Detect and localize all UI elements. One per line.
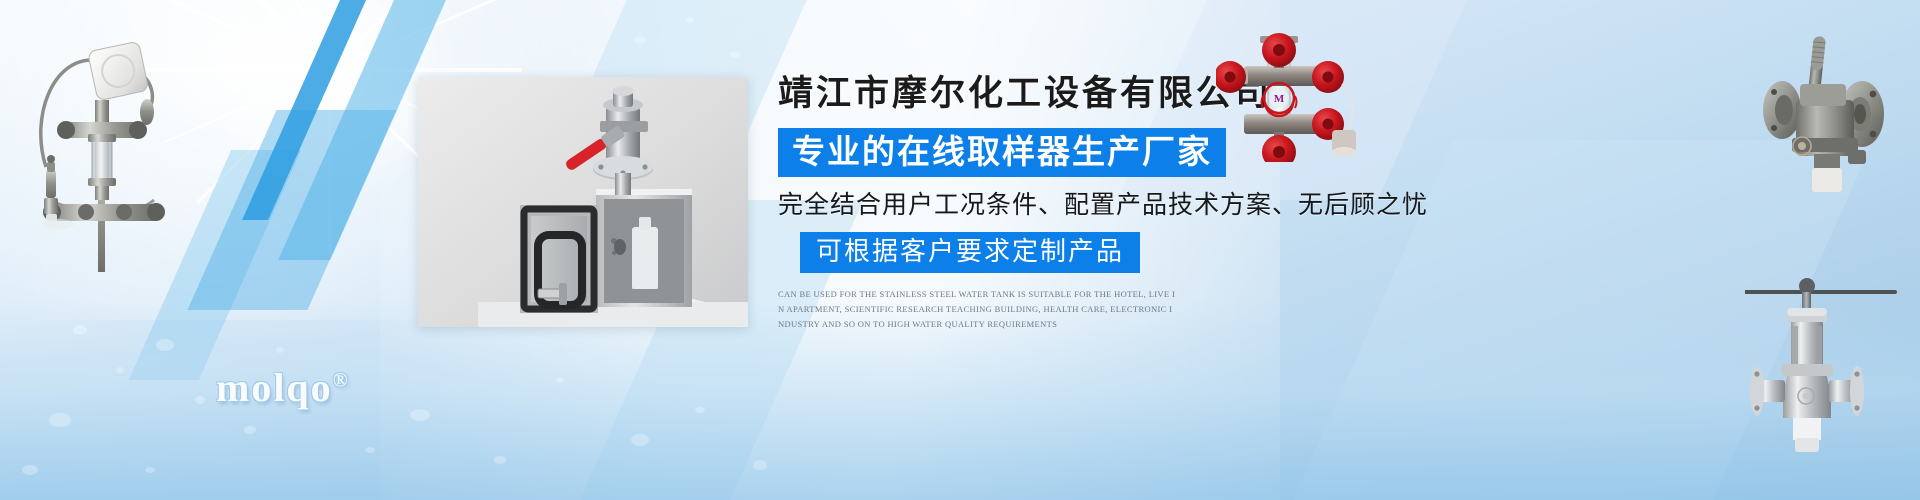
svg-text:M: M [1274,93,1285,105]
tagline-badge: 可根据客户要求定制产品 [800,232,1140,273]
headline-badge: 专业的在线取样器生产厂家 [778,128,1226,178]
brand-watermark: molqo® [216,364,350,411]
cross-valve-manifold-illustration: M [1216,22,1376,162]
promo-banner: 靖江市摩尔化工设备有限公司 专业的在线取样器生产厂家 完全结合用户工况条件、配置… [0,0,1920,500]
english-description: CAN BE USED FOR THE STAINLESS STEEL WATE… [778,287,1178,332]
registered-mark: ® [333,370,350,392]
gate-valve-illustration [1745,268,1910,468]
center-product-photo [418,77,748,327]
watermark-text: molqo [216,365,333,410]
subheadline: 完全结合用户工况条件、配置产品技术方案、无后顾之忧 [778,190,1398,220]
sampler-assembly-illustration [6,22,176,272]
lever-handle-flanged-valve-illustration [1740,22,1910,197]
